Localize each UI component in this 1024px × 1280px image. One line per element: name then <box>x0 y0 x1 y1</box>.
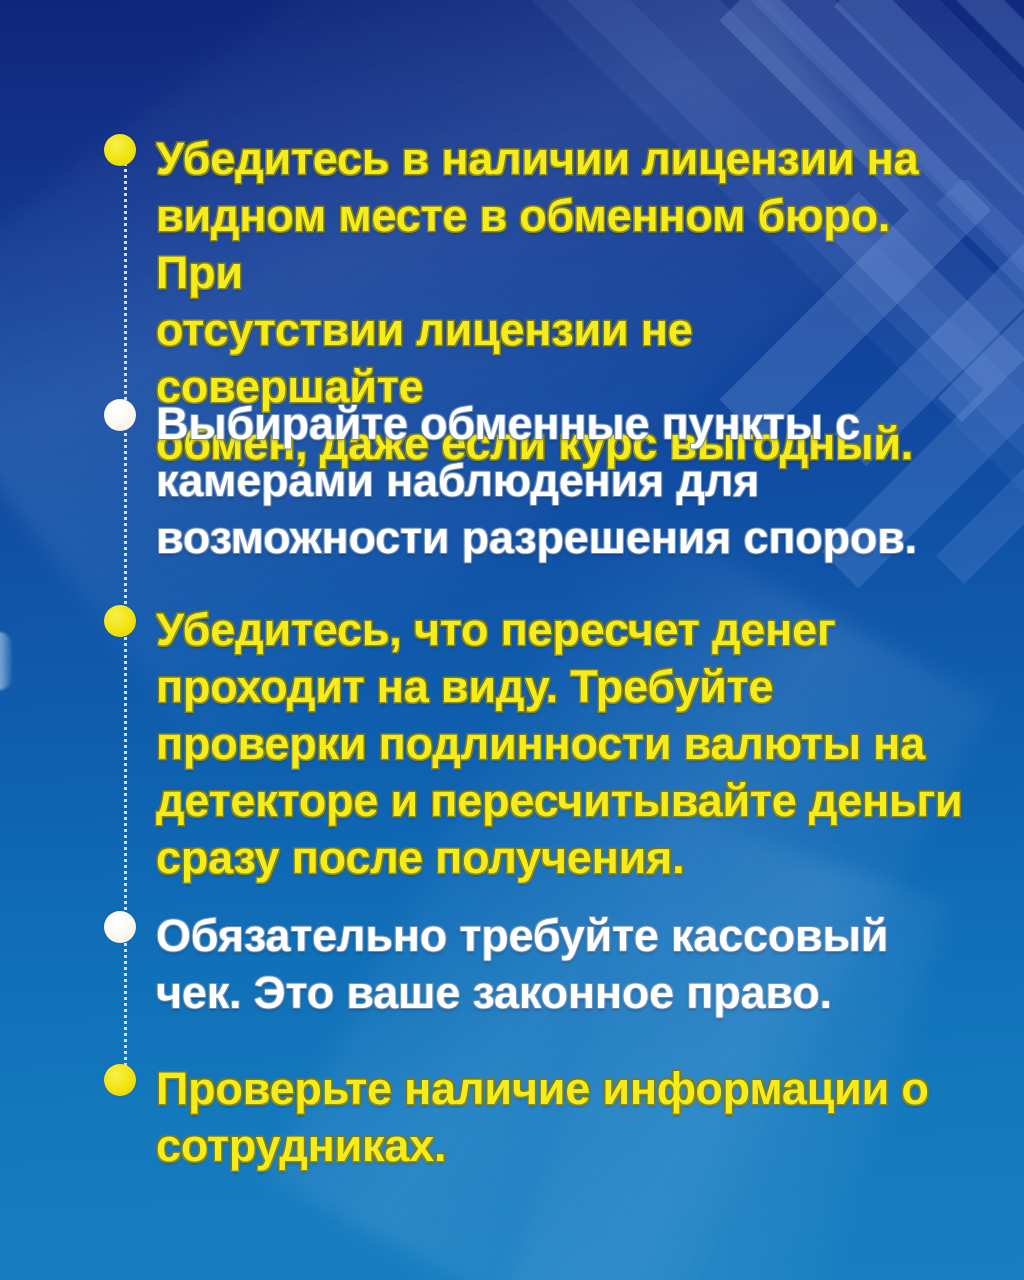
list-item-text: Выбирайте обменные пункты с камерами наб… <box>156 395 964 566</box>
bullet-dot-icon <box>104 911 136 943</box>
bullet-dot-icon <box>104 1064 136 1096</box>
bullet-dot-icon <box>104 134 136 166</box>
list-item-text: Обязательно требуйте кассовый чек. Это в… <box>156 907 964 1021</box>
bullet-dot-icon <box>104 605 136 637</box>
slide-canvas: Убедитесь в наличии лицензии на видном м… <box>0 0 1024 1280</box>
edge-glow-marker <box>0 632 12 690</box>
list-item-text: Убедитесь, что пересчет денег проходит н… <box>156 601 964 886</box>
list-item[interactable]: Убедитесь, что пересчет денег проходит н… <box>104 601 964 886</box>
list-item[interactable]: Выбирайте обменные пункты с камерами наб… <box>104 395 964 566</box>
list-item-text: Проверьте наличие информации о сотрудник… <box>156 1060 964 1174</box>
list-item[interactable]: Обязательно требуйте кассовый чек. Это в… <box>104 907 964 1021</box>
bullet-dot-icon <box>104 399 136 431</box>
list-item[interactable]: Проверьте наличие информации о сотрудник… <box>104 1060 964 1174</box>
